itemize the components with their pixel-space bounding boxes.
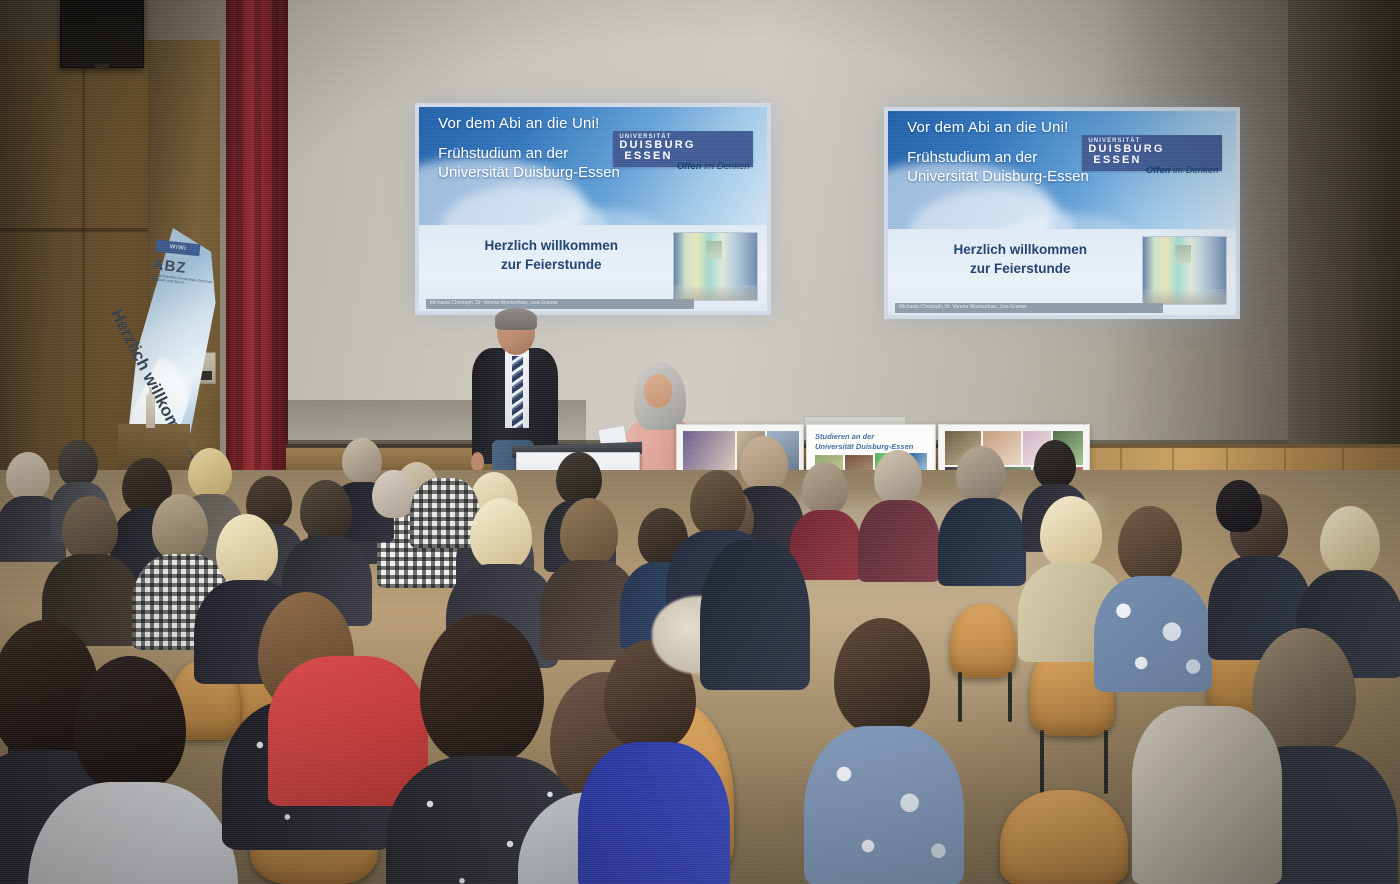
- chair-leg: [1040, 730, 1044, 794]
- slide-header-right: Vor dem Abi an die Uni! Frühstudium an d…: [888, 111, 1236, 229]
- chair-leg: [1104, 730, 1108, 794]
- presenter-man-tie: [512, 356, 523, 428]
- poster-title: Studieren an der Universität Duisburg-Es…: [815, 432, 927, 452]
- presenter-man-hand: [471, 452, 484, 472]
- slide-welcome: Herzlich willkommen zur Feierstunde: [443, 237, 659, 273]
- slide-left: Vor dem Abi an die Uni! Frühstudium an d…: [419, 107, 767, 311]
- slide-subtitle-line2-right: Universität Duisburg-Essen: [907, 168, 1089, 185]
- slide-welcome-line1: Herzlich willkommen: [484, 238, 618, 253]
- chair: [1000, 790, 1128, 884]
- slide-building-photo: [673, 232, 759, 301]
- projection-screen-right: Vor dem Abi an die Uni! Frühstudium an d…: [884, 107, 1240, 319]
- slide-body-left: Herzlich willkommen zur Feierstunde Mich…: [419, 225, 767, 311]
- slide-welcome-right: Herzlich willkommen zur Feierstunde: [912, 241, 1128, 277]
- slide-title-line1: Vor dem Abi an die Uni!: [438, 115, 599, 132]
- ude-tagline-bold-right: Offen: [1146, 165, 1171, 176]
- slide-footer-bar: Michaela Christoph, Dr. Verena Wockenfus…: [426, 299, 694, 308]
- ude-tagline: Offen im Denken: [677, 161, 750, 172]
- slide-welcome-line2-right: zur Feierstunde: [970, 261, 1071, 276]
- speaker-mount: [95, 64, 109, 69]
- projection-screen-left: Vor dem Abi an die Uni! Frühstudium an d…: [415, 103, 771, 315]
- slide-subtitle-line1-right: Frühstudium an der: [907, 149, 1037, 166]
- slide-subtitle: Frühstudium an der Universität Duisburg-…: [438, 145, 620, 183]
- poster-title-line1: Studieren an der: [815, 432, 874, 441]
- auditorium-photo: Vor dem Abi an die Uni! Frühstudium an d…: [0, 0, 1400, 884]
- ude-tagline-right: Offen im Denken: [1146, 165, 1219, 176]
- slide-footer-authors: Michaela Christoph, Dr. Verena Wockenfus…: [426, 299, 694, 306]
- slide-welcome-line2: zur Feierstunde: [501, 257, 602, 272]
- slide-title-line1-right: Vor dem Abi an die Uni!: [907, 119, 1068, 136]
- chair-leg: [1008, 672, 1012, 722]
- slide-subtitle-line2: Universität Duisburg-Essen: [438, 164, 620, 181]
- ude-tagline-rest-right: im Denken: [1171, 165, 1219, 176]
- slide-subtitle-line1: Frühstudium an der: [438, 145, 568, 162]
- slide-right: Vor dem Abi an die Uni! Frühstudium an d…: [888, 111, 1236, 315]
- slide-footer-bar-right: Michaela Christoph, Dr. Verena Wockenfus…: [895, 303, 1163, 312]
- presenter-woman-face: [644, 374, 672, 408]
- slide-header-left: Vor dem Abi an die Uni! Frühstudium an d…: [419, 107, 767, 225]
- ude-tagline-rest: im Denken: [702, 161, 750, 172]
- chair: [950, 604, 1016, 678]
- slide-building-photo-right: [1142, 236, 1228, 305]
- slide-subtitle-right: Frühstudium an der Universität Duisburg-…: [907, 149, 1089, 187]
- slide-welcome-line1-right: Herzlich willkommen: [953, 242, 1087, 257]
- ceiling-speaker: [60, 0, 144, 68]
- presenter-man-hair: [495, 308, 537, 330]
- slide-body-right: Herzlich willkommen zur Feierstunde Mich…: [888, 229, 1236, 315]
- slide-footer-authors-right: Michaela Christoph, Dr. Verena Wockenfus…: [895, 303, 1163, 310]
- stage-curtain: [226, 0, 288, 470]
- ude-tagline-bold: Offen: [677, 161, 702, 172]
- chair-leg: [958, 672, 962, 722]
- water-bottle: [146, 394, 155, 428]
